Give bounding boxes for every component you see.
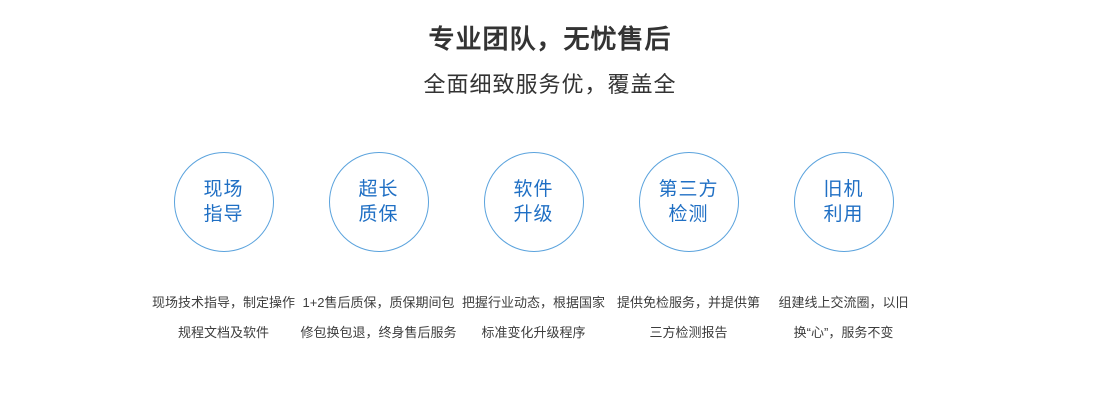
feature-circle[interactable]: 第三方 检测 bbox=[639, 152, 739, 252]
feature-circle[interactable]: 现场 指导 bbox=[174, 152, 274, 252]
feature-circle[interactable]: 旧机 利用 bbox=[794, 152, 894, 252]
feature-caption: 现场技术指导，制定操作 规程文档及软件 bbox=[152, 288, 295, 348]
page-title: 专业团队，无忧售后 bbox=[0, 22, 1100, 56]
feature-circle[interactable]: 超长 质保 bbox=[329, 152, 429, 252]
circle-label-line2: 检测 bbox=[668, 202, 708, 227]
page-subtitle: 全面细致服务优，覆盖全 bbox=[0, 70, 1100, 100]
feature-caption: 组建线上交流圈，以旧 换“心”，服务不变 bbox=[778, 288, 908, 348]
circle-label-line1: 软件 bbox=[513, 177, 553, 202]
feature-circle[interactable]: 软件 升级 bbox=[484, 152, 584, 252]
caption-line1: 把握行业动态，根据国家 bbox=[462, 288, 605, 318]
caption-line2: 标准变化升级程序 bbox=[462, 318, 605, 348]
circle-label-line2: 升级 bbox=[513, 202, 553, 227]
feature-caption: 提供免检服务，并提供第 三方检测报告 bbox=[617, 288, 760, 348]
caption-line2: 换“心”，服务不变 bbox=[778, 318, 908, 348]
service-guarantee-section: 专业团队，无忧售后 全面细致服务优，覆盖全 现场 指导 现场技术指导，制定操作 … bbox=[0, 0, 1100, 404]
caption-line1: 现场技术指导，制定操作 bbox=[152, 288, 295, 318]
circle-label-line2: 指导 bbox=[203, 202, 243, 227]
caption-line2: 修包换包退，终身售后服务 bbox=[301, 318, 457, 348]
feature-item-onsite-guidance[interactable]: 现场 指导 现场技术指导，制定操作 规程文档及软件 bbox=[146, 152, 301, 348]
circle-label-line2: 利用 bbox=[823, 202, 863, 227]
feature-caption: 1+2售后质保，质保期间包 修包换包退，终身售后服务 bbox=[301, 288, 457, 348]
circle-label-line1: 现场 bbox=[203, 177, 243, 202]
heading-block: 专业团队，无忧售后 全面细致服务优，覆盖全 bbox=[0, 22, 1100, 100]
feature-item-old-machine-reuse[interactable]: 旧机 利用 组建线上交流圈，以旧 换“心”，服务不变 bbox=[766, 152, 921, 348]
circle-label-line2: 质保 bbox=[358, 202, 398, 227]
feature-list: 现场 指导 现场技术指导，制定操作 规程文档及软件 超长 质保 1+2售后质保，… bbox=[146, 152, 921, 348]
circle-label-line1: 旧机 bbox=[823, 177, 863, 202]
feature-caption: 把握行业动态，根据国家 标准变化升级程序 bbox=[462, 288, 605, 348]
caption-line1: 组建线上交流圈，以旧 bbox=[778, 288, 908, 318]
feature-item-extended-warranty[interactable]: 超长 质保 1+2售后质保，质保期间包 修包换包退，终身售后服务 bbox=[301, 152, 456, 348]
caption-line1: 提供免检服务，并提供第 bbox=[617, 288, 760, 318]
caption-line1: 1+2售后质保，质保期间包 bbox=[301, 288, 457, 318]
caption-line2: 三方检测报告 bbox=[617, 318, 760, 348]
feature-item-third-party-testing[interactable]: 第三方 检测 提供免检服务，并提供第 三方检测报告 bbox=[611, 152, 766, 348]
caption-line2: 规程文档及软件 bbox=[152, 318, 295, 348]
circle-label-line1: 第三方 bbox=[658, 177, 718, 202]
feature-item-software-upgrade[interactable]: 软件 升级 把握行业动态，根据国家 标准变化升级程序 bbox=[456, 152, 611, 348]
circle-label-line1: 超长 bbox=[358, 177, 398, 202]
